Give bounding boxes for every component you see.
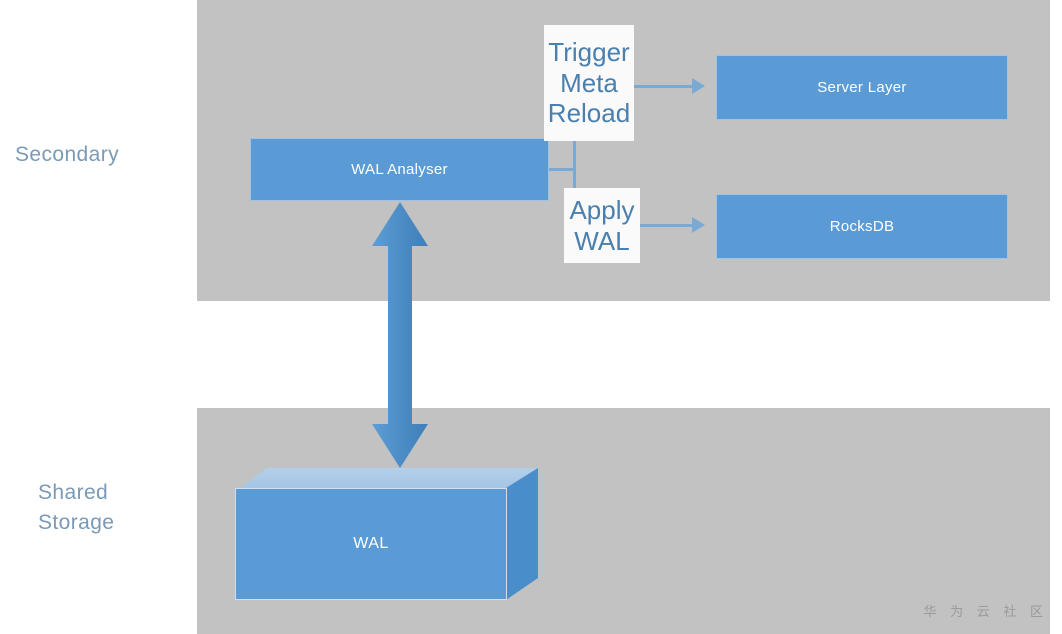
node-wal-storage[interactable]: WAL <box>235 468 538 600</box>
node-wal-storage-label: WAL <box>235 488 507 600</box>
wal-storage-side-face <box>506 468 538 600</box>
diagram-canvas: Secondary Shared Storage WAL Analyser Se… <box>0 0 1062 634</box>
node-server-layer-label: Server Layer <box>817 79 906 96</box>
region-label-secondary: Secondary <box>15 140 190 170</box>
double-headed-sync-arrow-icon <box>371 202 429 468</box>
edge-label-trigger-meta-reload: Trigger Meta Reload <box>544 25 634 141</box>
region-label-shared-storage: Shared Storage <box>38 478 188 538</box>
node-rocksdb-label: RocksDB <box>830 218 895 235</box>
node-wal-analyser-label: WAL Analyser <box>351 161 448 178</box>
node-wal-analyser[interactable]: WAL Analyser <box>250 138 549 201</box>
node-server-layer[interactable]: Server Layer <box>716 55 1008 120</box>
edge-label-apply-wal: Apply WAL <box>564 188 640 263</box>
arrowhead-to-server-layer-icon <box>692 78 705 94</box>
connector-wal-analyser-stub <box>549 168 575 171</box>
watermark: 华 为 云 社 区 <box>924 601 1048 620</box>
node-rocksdb[interactable]: RocksDB <box>716 194 1008 259</box>
arrowhead-to-rocksdb-icon <box>692 217 705 233</box>
